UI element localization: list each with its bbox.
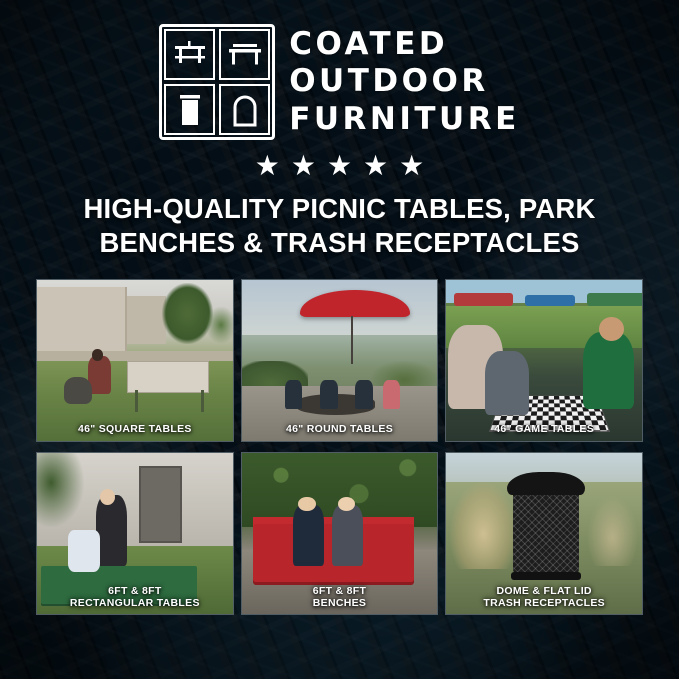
gallery-caption-line-1: DOME & FLAT LID bbox=[449, 586, 639, 598]
gallery-caption: 6FT & 8FT BENCHES bbox=[242, 582, 438, 614]
photo-game-table bbox=[446, 280, 642, 441]
gallery-item-game-tables: 46" GAME TABLES bbox=[445, 279, 643, 442]
dome-lid-trash-can-icon bbox=[219, 84, 270, 135]
star-icon-1: ★ bbox=[255, 152, 280, 180]
gallery-caption: 6FT & 8FT RECTANGULAR TABLES bbox=[37, 582, 233, 614]
product-banner: COATED OUTDOOR FURNITURE ★ ★ ★ ★ ★ HIGH-… bbox=[0, 0, 679, 679]
gallery-caption: 46" GAME TABLES bbox=[446, 420, 642, 441]
headline: HIGH-QUALITY PICNIC TABLES, PARK BENCHES… bbox=[63, 192, 615, 259]
headline-line-2: BENCHES & TRASH RECEPTACLES bbox=[83, 226, 595, 260]
gallery-caption-line-2: RECTANGULAR TABLES bbox=[40, 598, 230, 610]
star-icon-2: ★ bbox=[291, 152, 316, 180]
gallery-caption: 46" ROUND TABLES bbox=[242, 420, 438, 441]
star-rating: ★ ★ ★ ★ ★ bbox=[255, 152, 425, 180]
brand-wordmark: COATED OUTDOOR FURNITURE bbox=[289, 27, 520, 137]
product-gallery: 46" SQUARE TABLES 46" ROUND TABLES bbox=[36, 279, 643, 615]
star-icon-5: ★ bbox=[399, 152, 424, 180]
gallery-caption-line-2: BENCHES bbox=[245, 598, 435, 610]
wordmark-line-3: FURNITURE bbox=[289, 102, 520, 137]
brand-logo: COATED OUTDOOR FURNITURE bbox=[159, 24, 520, 140]
gallery-caption-line-1: 6FT & 8FT bbox=[245, 586, 435, 598]
gallery-item-benches: 6FT & 8FT BENCHES bbox=[241, 452, 439, 615]
picnic-table-icon bbox=[164, 29, 215, 80]
gallery-caption: DOME & FLAT LID TRASH RECEPTACLES bbox=[446, 582, 642, 614]
logo-mark-grid bbox=[159, 24, 275, 140]
star-icon-4: ★ bbox=[363, 152, 388, 180]
gallery-item-square-tables: 46" SQUARE TABLES bbox=[36, 279, 234, 442]
gallery-caption-line-1: 6FT & 8FT bbox=[40, 586, 230, 598]
star-icon-3: ★ bbox=[327, 152, 352, 180]
gallery-caption: 46" SQUARE TABLES bbox=[37, 420, 233, 441]
photo-round-table bbox=[242, 280, 438, 441]
gallery-item-rectangular-tables: 6FT & 8FT RECTANGULAR TABLES bbox=[36, 452, 234, 615]
wordmark-line-1: COATED bbox=[289, 27, 520, 62]
flat-lid-trash-can-icon bbox=[164, 84, 215, 135]
wordmark-line-2: OUTDOOR bbox=[289, 64, 520, 99]
photo-square-table bbox=[37, 280, 233, 441]
gallery-item-trash-receptacles: DOME & FLAT LID TRASH RECEPTACLES bbox=[445, 452, 643, 615]
gallery-caption-line-2: TRASH RECEPTACLES bbox=[449, 598, 639, 610]
headline-line-1: HIGH-QUALITY PICNIC TABLES, PARK bbox=[83, 192, 595, 226]
gallery-item-round-tables: 46" ROUND TABLES bbox=[241, 279, 439, 442]
park-bench-icon bbox=[219, 29, 270, 80]
